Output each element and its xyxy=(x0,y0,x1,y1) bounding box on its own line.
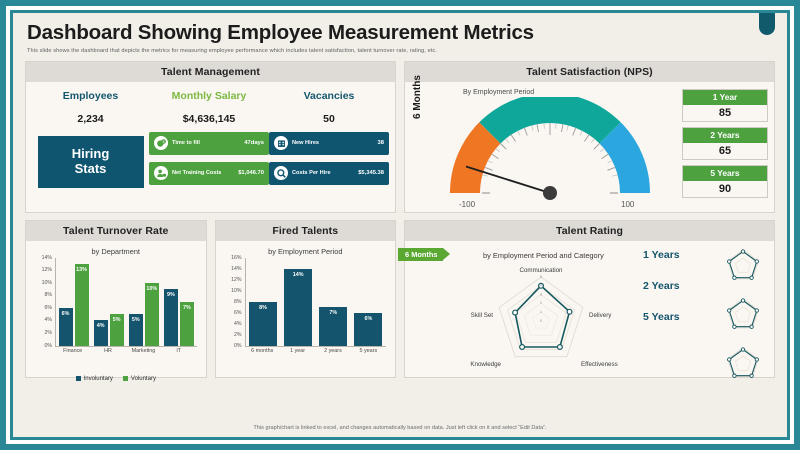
header: Dashboard Showing Employee Measurement M… xyxy=(13,13,787,54)
bar-group: 8% xyxy=(246,258,281,346)
bar: 5% xyxy=(129,314,143,345)
panel-body-talent-management: Employees 2,234 Hiring Stats Monthly Sal… xyxy=(26,82,395,212)
mini-radar-2-years xyxy=(721,294,765,334)
bar: 4% xyxy=(94,320,108,345)
tile-value-time-to-fill: 47days xyxy=(244,140,264,146)
magnifier-icon xyxy=(274,166,288,180)
tile-net-training-costs[interactable]: Net Training Costs $1,046.70 xyxy=(149,162,269,185)
legend-label-involuntary: Involuntary xyxy=(84,376,113,382)
bar-value-label: 5% xyxy=(129,317,143,323)
x-tick-label: 2 years xyxy=(315,348,350,354)
bar-value-label: 9% xyxy=(164,292,178,298)
panel-body-talent-satisfaction: By Employment Period 6 Months xyxy=(405,82,774,212)
tile-label-time-to-fill: Time to fill xyxy=(172,140,244,147)
kpi-label-vacancies: Vacancies xyxy=(304,90,355,102)
dashboard-canvas: Dashboard Showing Employee Measurement M… xyxy=(10,10,790,440)
bar-group: 6% xyxy=(351,258,386,346)
kpi-label-employees: Employees xyxy=(63,90,118,102)
panel-title-talent-turnover-rate: Talent Turnover Rate xyxy=(26,221,206,241)
rating-period-label-2-years: 2 Years xyxy=(643,280,709,292)
page-subtitle: This slide shows the dashboard that depi… xyxy=(27,48,773,54)
panel-title-talent-rating: Talent Rating xyxy=(405,221,774,241)
nps-card-value-1-year: 85 xyxy=(683,105,767,121)
kpi-column-monthly-salary: Monthly Salary $4,636,145 $ Time to fill… xyxy=(149,87,269,207)
y-tick: 0% xyxy=(234,343,242,349)
legend-item-voluntary: Voluntary xyxy=(123,376,156,382)
bar-value-label: 14% xyxy=(284,272,312,278)
y-tick: 10% xyxy=(42,280,52,286)
nps-cards: 1 Year 85 2 Years 65 5 Years 90 xyxy=(682,87,768,207)
building-icon xyxy=(274,136,288,150)
radar-axis-label-knowledge: Knowledge xyxy=(470,361,501,368)
bar-group: 14% xyxy=(281,258,316,346)
panel-body-talent-rating: 6 Months by Employment Period and Catego… xyxy=(405,241,774,377)
x-axis-labels-fired: 6 months1 year2 years5 years xyxy=(245,348,387,354)
y-axis-ticks-fired: 16%14%12%10%8%6%4%2%0% xyxy=(222,258,244,346)
panel-talent-management: Talent Management Employees 2,234 Hiring… xyxy=(25,61,396,213)
rating-period-labels: 1 Years 2 Years 5 Years xyxy=(643,249,709,323)
svg-text:$: $ xyxy=(162,139,164,143)
panel-talent-rating: Talent Rating 6 Months by Employment Per… xyxy=(404,220,775,378)
legend-turnover: Involuntary Voluntary xyxy=(32,376,200,382)
kpi-value-employees: 2,234 xyxy=(77,113,103,125)
y-tick: 6% xyxy=(234,310,242,316)
y-tick: 12% xyxy=(42,267,52,273)
money-clock-icon: $ xyxy=(154,136,168,150)
bottom-row: Talent Turnover Rate by Department 14%12… xyxy=(13,220,787,378)
y-axis-ticks-turnover: 14%12%10%8%6%4%2%0% xyxy=(32,258,54,346)
bar: 14% xyxy=(284,269,312,346)
footer-note: This graph/chart is linked to excel, and… xyxy=(13,425,787,431)
y-tick: 8% xyxy=(45,292,53,298)
panel-body-talent-turnover-rate: by Department 14%12%10%8%6%4%2%0% 6%13%4… xyxy=(26,241,206,387)
bar-group: 4%5% xyxy=(91,258,126,346)
radar-axis-label-delivery: Delivery xyxy=(589,312,612,319)
panel-fired-talents: Fired Talents by Employment Period 16%14… xyxy=(215,220,397,378)
x-tick-label: 5 years xyxy=(351,348,386,354)
tile-value-costs-per-hire: $5,345.38 xyxy=(358,170,384,176)
y-tick: 16% xyxy=(231,255,241,261)
bar: 6% xyxy=(354,313,382,346)
page-title: Dashboard Showing Employee Measurement M… xyxy=(27,21,773,45)
bar: 7% xyxy=(180,302,194,346)
nps-card-value-5-years: 90 xyxy=(683,181,767,197)
top-row: Talent Management Employees 2,234 Hiring… xyxy=(13,61,787,213)
x-tick-label: 1 year xyxy=(280,348,315,354)
hiring-stats-box: Hiring Stats xyxy=(38,136,144,188)
tile-label-new-hires: New Hires xyxy=(292,140,378,147)
corner-tab-decoration xyxy=(759,13,775,35)
y-tick: 2% xyxy=(234,332,242,338)
tile-costs-per-hire[interactable]: Costs Per Hire $5,345.38 xyxy=(269,162,389,185)
legend-item-involuntary: Involuntary xyxy=(76,376,113,382)
chart-fired-talents: 16%14%12%10%8%6%4%2%0% 8%14%7%6% 6 month… xyxy=(222,258,390,362)
bar-value-label: 13% xyxy=(75,267,89,273)
bar-value-label: 6% xyxy=(59,311,73,317)
x-tick-label: IT xyxy=(161,348,196,354)
hiring-stats-line2: Stats xyxy=(75,162,107,177)
rating-period-label-1-years: 1 Years xyxy=(643,249,709,261)
y-tick: 2% xyxy=(45,330,53,336)
panel-title-talent-management: Talent Management xyxy=(26,62,395,82)
legend-label-voluntary: Voluntary xyxy=(131,376,156,382)
bar-value-label: 8% xyxy=(249,305,277,311)
bar-value-label: 7% xyxy=(319,310,347,316)
mini-radar-5-years xyxy=(721,343,765,383)
y-tick: 14% xyxy=(42,255,52,261)
bar-group: 5%10% xyxy=(126,258,161,346)
gauge-scale-max: 100 xyxy=(621,200,635,209)
bar-value-label: 10% xyxy=(145,286,159,292)
bar: 9% xyxy=(164,289,178,346)
kpi-value-vacancies: 50 xyxy=(323,113,335,125)
chart-subtitle-turnover: by Department xyxy=(32,247,200,256)
gauge-subtitle: By Employment Period xyxy=(463,89,534,96)
mini-radar-1-years xyxy=(721,245,765,285)
nps-card-1-year[interactable]: 1 Year 85 xyxy=(682,89,768,122)
nps-card-2-years[interactable]: 2 Years 65 xyxy=(682,127,768,160)
y-tick: 8% xyxy=(234,299,242,305)
panel-title-fired-talents: Fired Talents xyxy=(216,221,396,241)
nps-card-label-5-years: 5 Years xyxy=(683,166,767,181)
x-axis-labels-turnover: FinanceHRMarketingIT xyxy=(55,348,197,354)
y-tick: 4% xyxy=(234,321,242,327)
bar-value-label: 4% xyxy=(94,323,108,329)
y-tick: 6% xyxy=(45,305,53,311)
y-tick: 4% xyxy=(45,317,53,323)
gauge-wrapper: By Employment Period 6 Months xyxy=(411,87,682,207)
legend-swatch-voluntary xyxy=(123,376,128,381)
x-tick-label: Marketing xyxy=(126,348,161,354)
person-training-icon xyxy=(154,166,168,180)
rating-period-label-5-years: 5 Years xyxy=(643,311,709,323)
tile-new-hires[interactable]: New Hires 38 xyxy=(269,132,389,155)
nps-card-value-2-years: 65 xyxy=(683,143,767,159)
bar: 6% xyxy=(59,308,73,346)
hiring-stats-line1: Hiring xyxy=(72,147,110,162)
legend-swatch-involuntary xyxy=(76,376,81,381)
panel-talent-turnover-rate: Talent Turnover Rate by Department 14%12… xyxy=(25,220,207,378)
nps-card-5-years[interactable]: 5 Years 90 xyxy=(682,165,768,198)
kpi-column-employees: Employees 2,234 Hiring Stats xyxy=(32,87,149,207)
tile-time-to-fill[interactable]: $ Time to fill 47days xyxy=(149,132,269,155)
tile-label-costs-per-hire: Costs Per Hire xyxy=(292,170,358,177)
plot-area-turnover: 6%13%4%5%5%10%9%7% xyxy=(55,258,197,347)
slide: Dashboard Showing Employee Measurement M… xyxy=(0,0,800,450)
bar-group: 6%13% xyxy=(56,258,91,346)
y-tick: 12% xyxy=(231,277,241,283)
y-tick: 10% xyxy=(231,288,241,294)
gauge-axis-label: 6 Months xyxy=(412,75,423,119)
radar-axis-label-effectiveness: Effectiveness xyxy=(581,361,618,368)
tile-value-net-training-costs: $1,046.70 xyxy=(238,170,264,176)
bar: 7% xyxy=(319,307,347,346)
bar: 5% xyxy=(110,314,124,345)
slide-inner: Dashboard Showing Employee Measurement M… xyxy=(6,6,794,444)
chart-subtitle-fired: by Employment Period xyxy=(222,247,390,256)
x-tick-label: 6 months xyxy=(245,348,280,354)
bar-group: 9%7% xyxy=(161,258,196,346)
panel-title-talent-satisfaction: Talent Satisfaction (NPS) xyxy=(405,62,774,82)
chart-talent-turnover-rate: 14%12%10%8%6%4%2%0% 6%13%4%5%5%10%9%7% F… xyxy=(32,258,200,362)
rating-mini-radars xyxy=(717,245,769,383)
radar-axis-label-communication: Communication xyxy=(520,267,564,274)
svg-text:0: 0 xyxy=(540,318,543,323)
y-tick: 14% xyxy=(231,266,241,272)
kpi-value-monthly-salary: $4,636,145 xyxy=(183,113,236,125)
bar-value-label: 6% xyxy=(354,316,382,322)
bar-value-label: 7% xyxy=(180,305,194,311)
x-tick-label: HR xyxy=(90,348,125,354)
nps-card-label-1-year: 1 Year xyxy=(683,90,767,105)
chart-talent-rating-radar: 5 4 3 2 1 0 Communication Deliv xyxy=(463,259,633,381)
radar-axis-label-skill-set: Skill Set xyxy=(471,312,494,319)
x-tick-label: Finance xyxy=(55,348,90,354)
badge-six-months[interactable]: 6 Months xyxy=(398,248,443,261)
bar-value-label: 5% xyxy=(110,317,124,323)
nps-card-label-2-years: 2 Years xyxy=(683,128,767,143)
gauge-scale-min: -100 xyxy=(459,200,476,209)
bar: 13% xyxy=(75,264,89,346)
bar-group: 7% xyxy=(316,258,351,346)
nps-gauge-chart: -100 100 xyxy=(425,97,675,209)
panel-talent-satisfaction: Talent Satisfaction (NPS) By Employment … xyxy=(404,61,775,213)
tile-label-net-training-costs: Net Training Costs xyxy=(172,170,238,177)
panel-body-fired-talents: by Employment Period 16%14%12%10%8%6%4%2… xyxy=(216,241,396,377)
kpi-label-monthly-salary: Monthly Salary xyxy=(172,90,247,102)
tile-value-new-hires: 38 xyxy=(378,140,384,146)
kpi-column-vacancies: Vacancies 50 New Hires 38 xyxy=(269,87,389,207)
y-tick: 0% xyxy=(45,343,53,349)
plot-area-fired: 8%14%7%6% xyxy=(245,258,387,347)
bar: 10% xyxy=(145,283,159,346)
bar: 8% xyxy=(249,302,277,346)
